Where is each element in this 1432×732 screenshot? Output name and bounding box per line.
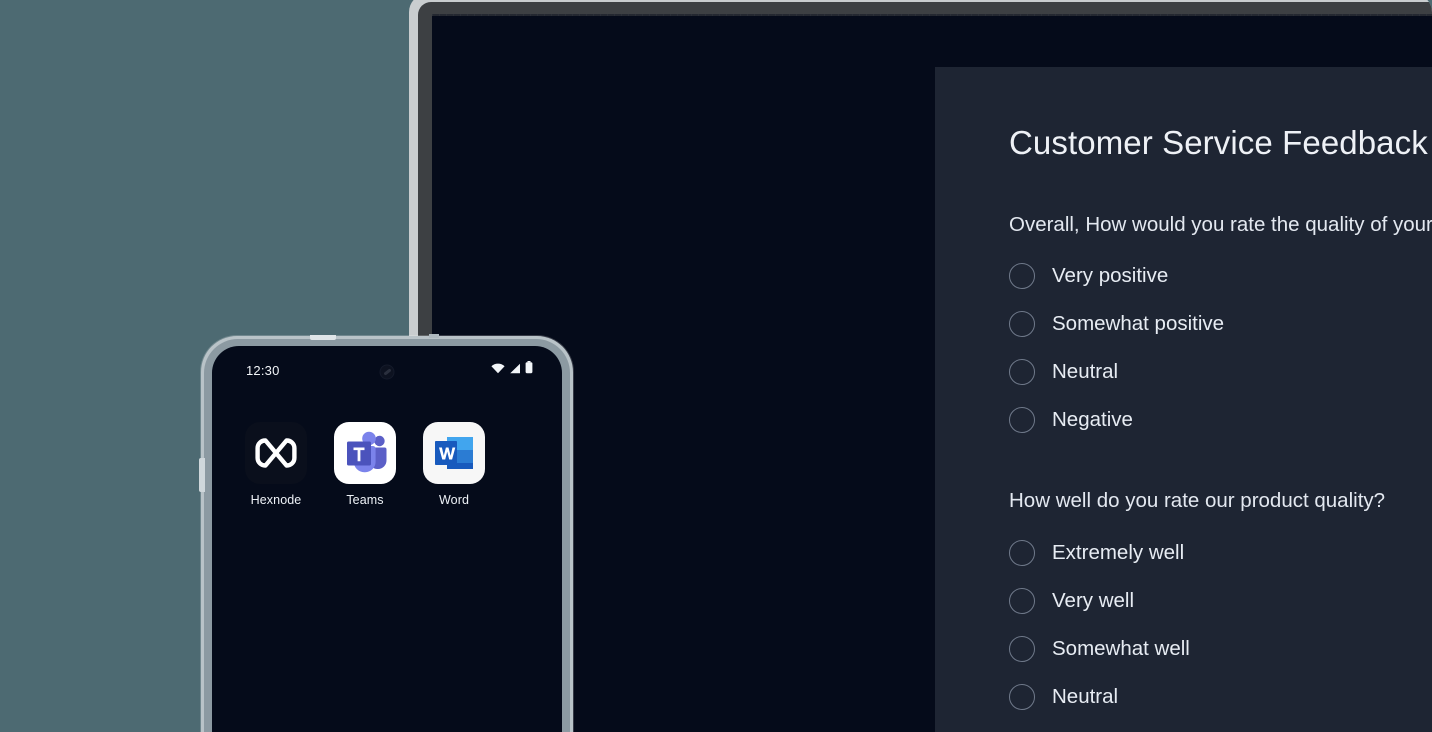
status-bar: 12:30	[212, 346, 562, 394]
laptop-screen: Customer Service Feedback Overall, How w…	[432, 14, 1432, 732]
battery-icon	[525, 361, 533, 379]
option-row[interactable]: Extremely well	[1009, 529, 1432, 577]
cellular-signal-icon	[509, 361, 521, 379]
app-item-teams[interactable]: Teams	[334, 422, 396, 507]
app-item-hexnode[interactable]: Hexnode	[245, 422, 307, 507]
radio-button-icon[interactable]	[1009, 684, 1035, 710]
status-clock: 12:30	[246, 363, 280, 378]
phone-top-sensor	[429, 334, 439, 338]
phone-earpiece	[310, 335, 336, 340]
option-row[interactable]: Very positive	[1009, 252, 1432, 300]
microsoft-word-icon[interactable]	[423, 422, 485, 484]
microsoft-teams-icon[interactable]	[334, 422, 396, 484]
options-group-1: Very positive Somewhat positive Neutral	[1009, 252, 1432, 444]
options-group-2: Extremely well Very well Somewhat well	[1009, 529, 1432, 721]
wifi-icon	[491, 361, 505, 379]
option-label: Extremely well	[1052, 541, 1184, 565]
survey-form-panel: Customer Service Feedback Overall, How w…	[935, 67, 1432, 732]
radio-button-icon[interactable]	[1009, 407, 1035, 433]
option-label: Somewhat well	[1052, 637, 1190, 661]
phone-screen: 12:30	[212, 346, 562, 732]
phone-volume-button[interactable]	[199, 458, 205, 492]
radio-button-icon[interactable]	[1009, 588, 1035, 614]
option-label: Negative	[1052, 408, 1133, 432]
app-label: Teams	[334, 493, 396, 507]
option-label: Neutral	[1052, 360, 1118, 384]
radio-button-icon[interactable]	[1009, 263, 1035, 289]
option-row[interactable]: Neutral	[1009, 348, 1432, 396]
option-row[interactable]: Somewhat well	[1009, 625, 1432, 673]
status-icons	[491, 361, 533, 379]
option-label: Very positive	[1052, 264, 1168, 288]
hexnode-icon[interactable]	[245, 422, 307, 484]
bezel-texture	[432, 14, 1432, 16]
question-block-1: Overall, How would you rate the quality …	[1009, 212, 1432, 445]
front-camera-icon	[380, 365, 395, 380]
option-row[interactable]: Negative	[1009, 396, 1432, 444]
question-text-1: Overall, How would you rate the quality …	[1009, 212, 1432, 239]
radio-button-icon[interactable]	[1009, 540, 1035, 566]
radio-button-icon[interactable]	[1009, 359, 1035, 385]
option-row[interactable]: Neutral	[1009, 673, 1432, 721]
question-block-2: How well do you rate our product quality…	[1009, 488, 1432, 721]
phone-device: 12:30	[201, 336, 573, 732]
app-item-word[interactable]: Word	[423, 422, 485, 507]
radio-button-icon[interactable]	[1009, 636, 1035, 662]
app-label: Word	[423, 493, 485, 507]
option-label: Neutral	[1052, 685, 1118, 709]
app-label: Hexnode	[245, 493, 307, 507]
option-label: Very well	[1052, 589, 1134, 613]
radio-button-icon[interactable]	[1009, 311, 1035, 337]
option-row[interactable]: Very well	[1009, 577, 1432, 625]
app-grid: Hexnode Teams	[212, 394, 562, 507]
option-row[interactable]: Somewhat positive	[1009, 300, 1432, 348]
question-text-2: How well do you rate our product quality…	[1009, 488, 1432, 515]
page-title: Customer Service Feedback	[1009, 123, 1432, 163]
option-label: Somewhat positive	[1052, 312, 1224, 336]
